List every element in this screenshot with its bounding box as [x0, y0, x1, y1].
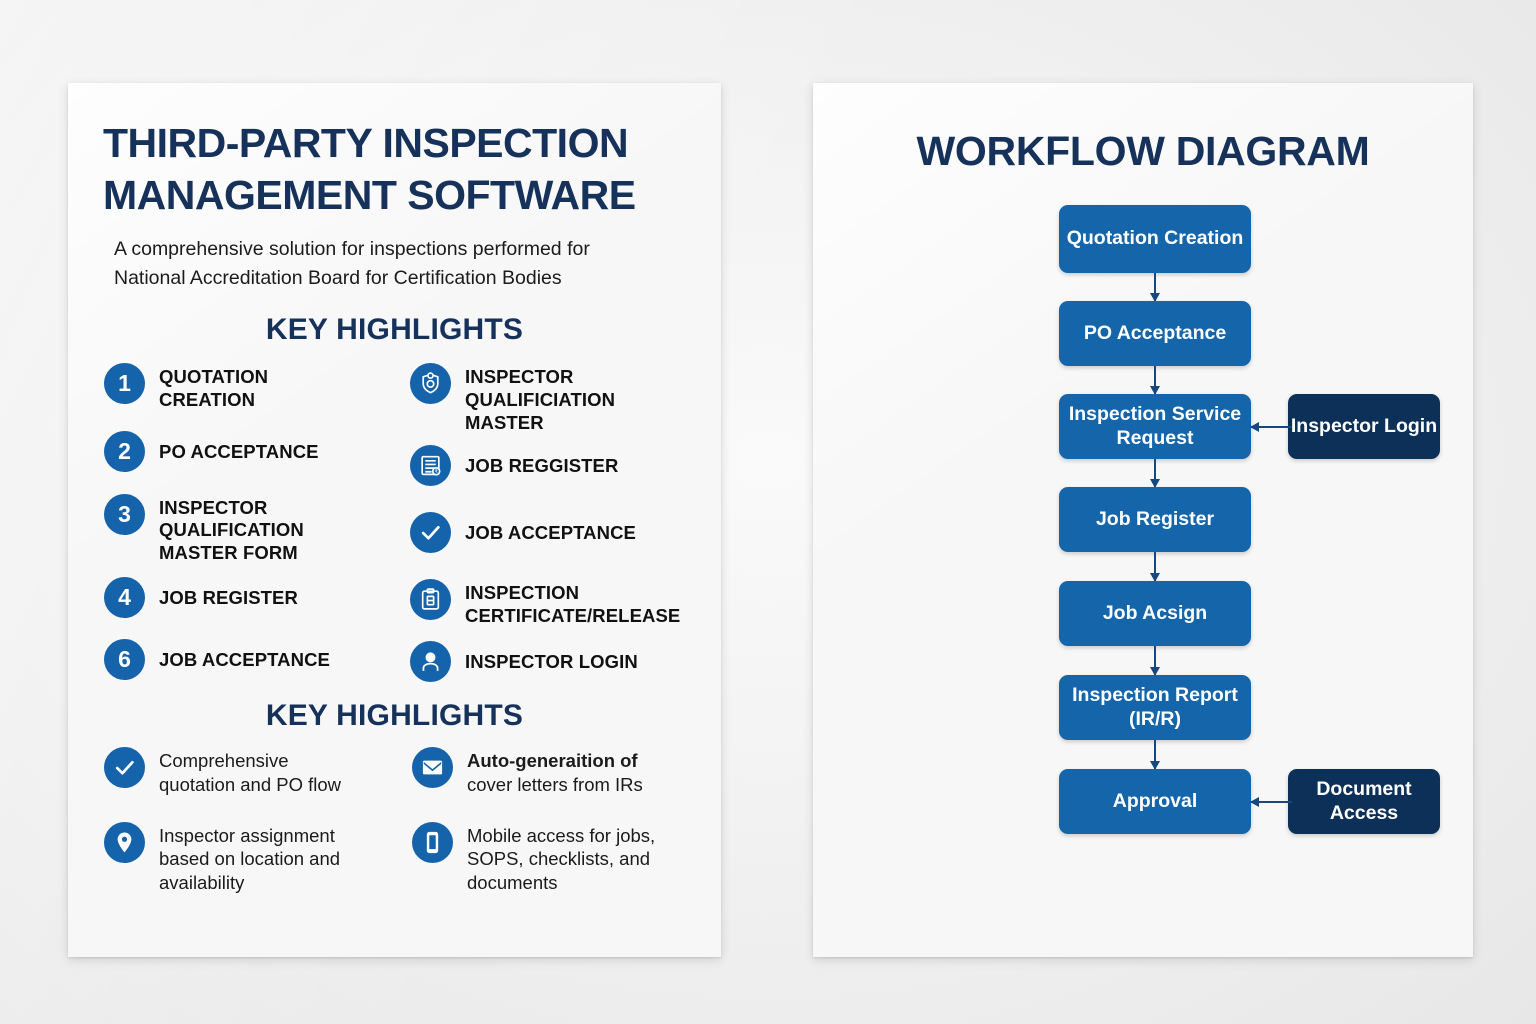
node-approval[interactable]: Approval: [1059, 769, 1251, 834]
node-inspector-login[interactable]: Inspector Login: [1288, 394, 1440, 459]
list-item: JOB ACCEPTANCE: [410, 512, 700, 553]
arrow-job-acsign-to-report: [1154, 646, 1156, 675]
document-lines-icon: ₹: [410, 445, 451, 486]
arrow-quotation-to-po: [1154, 273, 1156, 301]
arrow-document-access-to-approval: [1251, 801, 1292, 803]
node-po-acceptance[interactable]: PO Acceptance: [1059, 301, 1251, 366]
key-highlights-grid: 1 QUOTATION CREATION 2 PO ACCEPTANCE 3 I…: [68, 347, 721, 682]
list-item-label: QUOTATION CREATION: [159, 363, 334, 411]
page-title-line2: MANAGEMENT SOFTWARE: [103, 169, 721, 221]
node-job-register[interactable]: Job Register: [1059, 487, 1251, 552]
left-panel: THIRD-PARTY INSPECTION MANAGEMENT SOFTWA…: [68, 83, 721, 957]
mobile-icon: [412, 822, 453, 863]
list-item-label: JOB REGGISTER: [465, 445, 618, 478]
workflow-title: WORKFLOW DIAGRAM: [813, 83, 1473, 175]
number-badge: 2: [104, 431, 145, 472]
list-item-label: JOB ACCEPTANCE: [465, 512, 636, 545]
check-icon: [104, 747, 145, 788]
page-subtitle-line1: A comprehensive solution for inspections…: [114, 235, 721, 264]
list-item: Comprehensive quotation and PO flow: [104, 747, 396, 796]
node-job-acsign[interactable]: Job Acsign: [1059, 581, 1251, 646]
node-inspection-service-request[interactable]: Inspection Service Request: [1059, 394, 1251, 459]
svg-text:₹: ₹: [435, 469, 438, 475]
arrow-isr-to-job-register: [1154, 459, 1156, 487]
node-quotation-creation[interactable]: Quotation Creation: [1059, 205, 1251, 273]
number-badge: 1: [104, 363, 145, 404]
location-pin-icon: [104, 822, 145, 863]
list-item-label: JOB ACCEPTANCE: [159, 639, 330, 672]
list-item-label: Mobile access for jobs, SOPS, checklists…: [467, 822, 685, 895]
list-item: Auto-generaition of cover letters from I…: [412, 747, 704, 796]
list-item: Inspector assignment based on location a…: [104, 822, 396, 895]
number-badge: 6: [104, 639, 145, 680]
list-item-label: Comprehensive quotation and PO flow: [159, 747, 364, 796]
node-document-access[interactable]: Document Access: [1288, 769, 1440, 834]
list-item-label: Inspector assignment based on location a…: [159, 822, 369, 895]
node-inspection-report[interactable]: Inspection Report (IR/R): [1059, 675, 1251, 740]
arrow-inspector-login-to-isr: [1251, 426, 1292, 428]
list-item-label: INSPECTOR QUALIFICIATION MASTER: [465, 363, 650, 434]
arrow-po-to-isr: [1154, 366, 1156, 394]
numbered-highlights-column: 1 QUOTATION CREATION 2 PO ACCEPTANCE 3 I…: [104, 363, 394, 682]
page-subtitle-line2: National Accreditation Board for Certifi…: [114, 264, 721, 293]
key-highlights-heading-2: KEY HIGHLIGHTS: [68, 699, 721, 733]
list-item: 4 JOB REGISTER: [104, 577, 394, 618]
list-item: 6 JOB ACCEPTANCE: [104, 639, 394, 680]
shield-badge-icon: [410, 363, 451, 404]
icon-highlights-column: INSPECTOR QUALIFICIATION MASTER ₹ JOB RE…: [410, 363, 700, 682]
key-highlights-heading: KEY HIGHLIGHTS: [68, 313, 721, 347]
list-item-label: INSPECTOR LOGIN: [465, 641, 638, 674]
page-subtitle: A comprehensive solution for inspections…: [68, 222, 721, 294]
feature-highlights-grid: Comprehensive quotation and PO flow Insp…: [68, 733, 721, 894]
number-badge: 3: [104, 494, 145, 535]
list-item: Mobile access for jobs, SOPS, checklists…: [412, 822, 704, 895]
list-item-label: INSPECTION CERTIFICATE/RELEASE: [465, 579, 680, 627]
arrow-job-register-to-job-acsign: [1154, 552, 1156, 581]
feature-column-right: Auto-generaition of cover letters from I…: [412, 747, 704, 894]
feature-rest-text: cover letters from IRs: [467, 774, 643, 795]
list-item: 3 INSPECTOR QUALIFICATION MASTER FORM: [104, 494, 394, 565]
feature-bold-text: Auto-generaition of: [467, 750, 638, 771]
check-circle-icon: [410, 512, 451, 553]
list-item: ₹ JOB REGGISTER: [410, 445, 700, 486]
list-item: INSPECTOR QUALIFICIATION MASTER: [410, 363, 700, 434]
right-panel: WORKFLOW DIAGRAM Quotation Creation PO A…: [813, 83, 1473, 957]
list-item-label: INSPECTOR QUALIFICATION MASTER FORM: [159, 494, 334, 565]
feature-column-left: Comprehensive quotation and PO flow Insp…: [104, 747, 396, 894]
user-icon: [410, 641, 451, 682]
page-title: THIRD-PARTY INSPECTION MANAGEMENT SOFTWA…: [68, 83, 721, 222]
workflow-diagram: Quotation Creation PO Acceptance Inspect…: [813, 205, 1473, 905]
list-item-label: JOB REGISTER: [159, 577, 298, 610]
list-item: 2 PO ACCEPTANCE: [104, 431, 394, 472]
number-badge: 4: [104, 577, 145, 618]
list-item-label: PO ACCEPTANCE: [159, 431, 319, 464]
arrow-report-to-approval: [1154, 740, 1156, 769]
page-title-line1: THIRD-PARTY INSPECTION: [103, 117, 721, 169]
list-item: 1 QUOTATION CREATION: [104, 363, 394, 411]
list-item-label: Auto-generaition of cover letters from I…: [467, 747, 682, 796]
envelope-icon: [412, 747, 453, 788]
clipboard-icon: [410, 579, 451, 620]
list-item: INSPECTION CERTIFICATE/RELEASE: [410, 579, 700, 627]
list-item: INSPECTOR LOGIN: [410, 641, 700, 682]
